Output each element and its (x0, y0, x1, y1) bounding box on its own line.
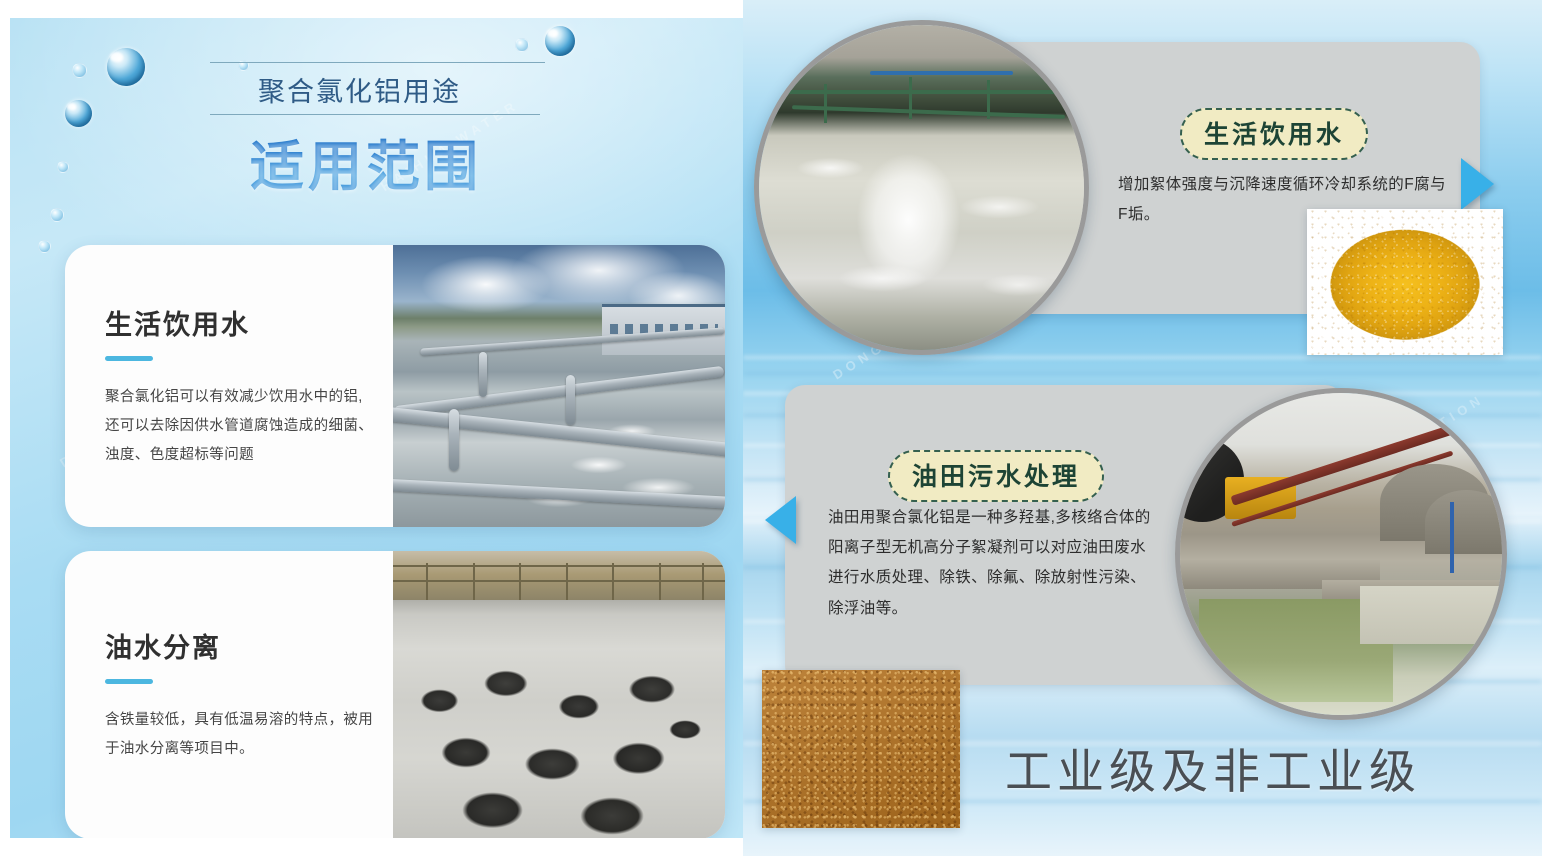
brown-pac-powder-photo (762, 670, 960, 828)
aeration-basin-foam-photo (393, 551, 725, 838)
info-card-desc-oilfield-sewage: 油田用聚合氯化铝是一种多羟基,多核络合体的阳离子型无机高分子絮凝剂可以对应油田废… (828, 503, 1158, 624)
yellow-pac-powder-photo (1307, 209, 1503, 355)
page-title: 适用范围 (250, 122, 482, 201)
subtitle: 聚合氯化铝用途 (258, 70, 461, 109)
feature-card-oil-water-separation[interactable]: 油水分离 含铁量较低，具有低温易溶的特点，被用于油水分离等项目中。 (65, 551, 725, 838)
feature-card-text: 油水分离 含铁量较低，具有低温易溶的特点，被用于油水分离等项目中。 (65, 551, 393, 838)
feature-card-title: 生活饮用水 (105, 303, 393, 342)
divider-line-bottom (210, 114, 540, 115)
accent-rule (105, 356, 153, 361)
accent-rule (105, 679, 153, 684)
divider-line-top (210, 62, 545, 63)
feature-card-desc: 聚合氯化铝可以有效减少饮用水中的铝,还可以去除因供水管道腐蚀造成的细菌、浊度、色… (105, 383, 377, 470)
sand-washing-plant-photo (1175, 388, 1507, 720)
feature-card-text: 生活饮用水 聚合氯化铝可以有效减少饮用水中的铝,还可以去除因供水管道腐蚀造成的细… (65, 245, 393, 527)
bubble-icon (38, 240, 51, 253)
feature-card-drinking-water[interactable]: 生活饮用水 聚合氯化铝可以有效减少饮用水中的铝,还可以去除因供水管道腐蚀造成的细… (65, 245, 725, 527)
left-panel: DONGYI HAIHUA WATER PURIFICATION HAIHUA … (10, 18, 743, 838)
badge-oilfield-sewage[interactable]: 油田污水处理 (888, 450, 1104, 502)
feature-card-title: 油水分离 (105, 626, 393, 665)
badge-drinking-water[interactable]: 生活饮用水 (1180, 108, 1368, 160)
water-treatment-plant-photo (393, 245, 725, 527)
header: 聚合氯化铝用途 适用范围 (10, 18, 743, 218)
arrow-left-icon (765, 496, 796, 544)
arrow-right-icon (1461, 158, 1494, 210)
feature-card-desc: 含铁量较低，具有低温易溶的特点，被用于油水分离等项目中。 (105, 706, 377, 764)
slogan: 工业级及非工业级 (1005, 733, 1421, 802)
poster-canvas: DONGYI HAIHUA WATER PURIFICATION HAIHUA … (0, 0, 1542, 856)
aeration-splash-photo (754, 20, 1089, 355)
